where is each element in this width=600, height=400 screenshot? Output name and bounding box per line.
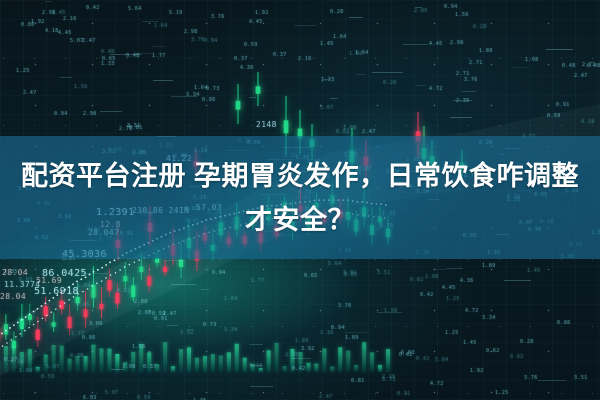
headline-overlay-band: 配资平台注册 孕期胃炎发作，日常饮食咋调整才安全？	[0, 136, 600, 259]
banner-image: 0.421.923.513.081.255.073.760.650.942.47…	[0, 0, 600, 400]
banner-headline: 配资平台注册 孕期胃炎发作，日常饮食咋调整才安全？	[0, 154, 600, 242]
